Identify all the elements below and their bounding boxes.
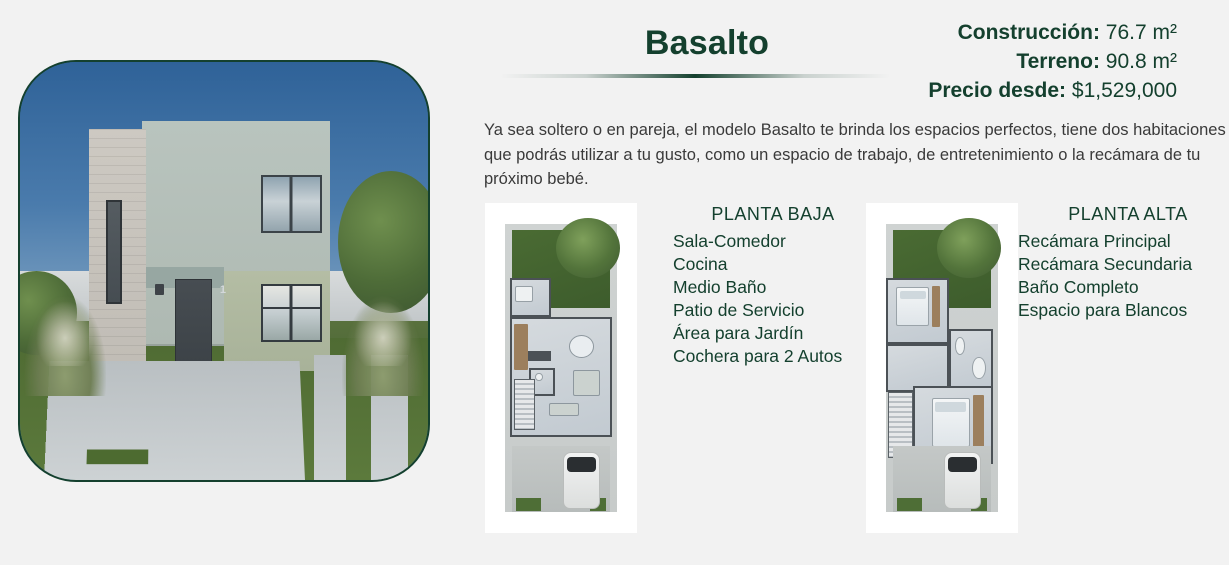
- laundry-fixture: [515, 286, 533, 302]
- narrow-window: [106, 200, 122, 305]
- ornamental-grass: [24, 296, 106, 396]
- kitchen-counter: [514, 324, 528, 370]
- planta-alta-heading: PLANTA ALTA: [1018, 203, 1229, 226]
- espacio-para-blancos: [886, 344, 949, 392]
- driveway-grass-inset: [87, 449, 149, 464]
- spec-value: 76.7 m²: [1106, 21, 1177, 44]
- list-item: Cochera para 2 Autos: [673, 345, 873, 368]
- sofa: [573, 370, 601, 396]
- upper-window: [261, 175, 322, 234]
- closet: [932, 286, 940, 327]
- car-icon: [944, 452, 981, 509]
- dining-table: [569, 335, 595, 358]
- sink-fixture: [972, 357, 986, 379]
- page-title: Basalto: [512, 24, 902, 63]
- planta-baja-list: PLANTA BAJA Sala-Comedor Cocina Medio Ba…: [673, 203, 873, 368]
- planta-baja-heading: PLANTA BAJA: [673, 203, 873, 226]
- tree-icon: [338, 171, 430, 313]
- house-exterior-photo: 1: [18, 60, 430, 482]
- spec-label: Precio desde:: [928, 79, 1066, 102]
- tree-icon: [556, 218, 619, 278]
- car-icon: [563, 452, 600, 509]
- model-description: Ya sea soltero o en pareja, el modelo Ba…: [484, 118, 1229, 192]
- bed-icon: [932, 398, 970, 447]
- list-item: Recámara Secundaria: [1018, 253, 1229, 276]
- title-divider: [500, 74, 890, 78]
- list-item: Área para Jardín: [673, 322, 873, 345]
- planta-alta-floorplan: [881, 218, 1003, 518]
- list-item: Patio de Servicio: [673, 299, 873, 322]
- house-render: 1: [20, 62, 428, 480]
- list-item: Sala-Comedor: [673, 230, 873, 253]
- grass-strip: [516, 498, 541, 511]
- list-item: Medio Baño: [673, 276, 873, 299]
- model-info-panel: Basalto Construcción: 76.7 m² Terreno: 9…: [452, 0, 1229, 565]
- ornamental-grass: [342, 296, 424, 396]
- wall-lamp-icon: [155, 284, 164, 295]
- spec-row-construccion: Construcción: 76.7 m²: [928, 18, 1177, 47]
- spec-row-precio: Precio desde: $1,529,000: [928, 76, 1177, 105]
- grass-strip: [897, 498, 922, 511]
- planta-baja-floorplan: [500, 218, 622, 518]
- tree-icon: [937, 218, 1000, 278]
- patio-de-servicio: [510, 278, 551, 317]
- spec-label: Construcción:: [958, 21, 1100, 44]
- door-number: 1: [220, 284, 226, 296]
- bano-completo: [949, 329, 993, 389]
- bed-icon: [896, 287, 929, 325]
- lower-window: [261, 284, 322, 343]
- toilet-fixture: [955, 337, 965, 355]
- list-item: Cocina: [673, 253, 873, 276]
- list-item: Espacio para Blancos: [1018, 299, 1229, 322]
- spec-row-terreno: Terreno: 90.8 m²: [928, 47, 1177, 76]
- list-item: Baño Completo: [1018, 276, 1229, 299]
- staircase: [514, 379, 536, 430]
- spec-value: $1,529,000: [1072, 79, 1177, 102]
- sala-comedor-cocina: [510, 317, 612, 437]
- specs-block: Construcción: 76.7 m² Terreno: 90.8 m² P…: [928, 18, 1177, 105]
- kitchen-island: [528, 351, 552, 360]
- planta-alta-list: PLANTA ALTA Recámara Principal Recámara …: [1018, 203, 1229, 322]
- planta-alta-plan-panel: [866, 203, 1018, 533]
- closet: [973, 395, 984, 447]
- toilet-fixture: [535, 373, 542, 381]
- sofa: [549, 403, 579, 417]
- spec-value: 90.8 m²: [1106, 50, 1177, 73]
- spec-label: Terreno:: [1016, 50, 1100, 73]
- list-item: Recámara Principal: [1018, 230, 1229, 253]
- planta-baja-plan-panel: [485, 203, 637, 533]
- recamara-secundaria: [886, 278, 949, 344]
